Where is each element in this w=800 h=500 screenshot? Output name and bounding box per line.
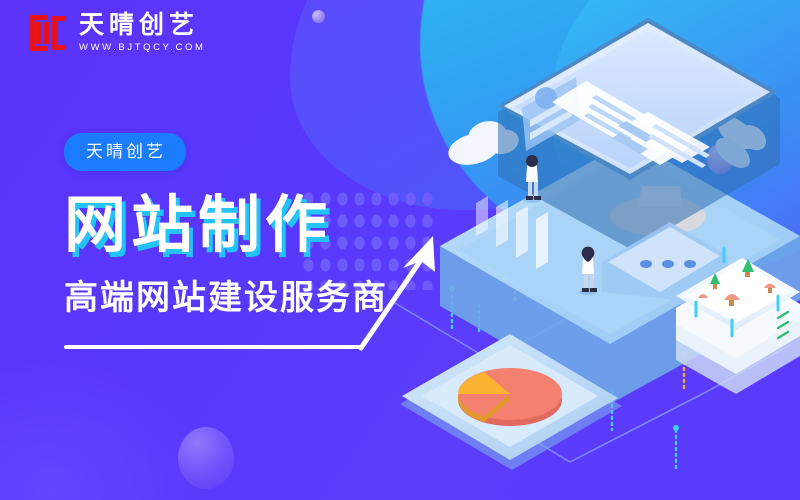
background-glow-bottom-left <box>0 360 210 500</box>
pie-chart-icon <box>458 368 562 426</box>
logo-url: WWW.BJTQCY.COM <box>79 43 205 53</box>
decorative-sphere-large <box>178 427 234 489</box>
site-logo[interactable]: 天晴创艺 WWW.BJTQCY.COM <box>28 13 205 53</box>
divider-line <box>64 345 364 349</box>
page-subtitle: 高端网站建设服务商 <box>64 280 484 317</box>
decorative-sphere-small <box>312 10 325 23</box>
banner-root: 天晴创艺 WWW.BJTQCY.COM 天晴创艺 网站制作 高端网站建设服务商 <box>0 0 800 500</box>
page-title: 网站制作 <box>64 193 484 258</box>
hero-content: 天晴创艺 网站制作 高端网站建设服务商 <box>64 133 484 317</box>
brand-badge[interactable]: 天晴创艺 <box>64 133 186 171</box>
logo-name: 天晴创艺 <box>79 13 205 38</box>
bracket-logo-icon <box>28 13 70 53</box>
